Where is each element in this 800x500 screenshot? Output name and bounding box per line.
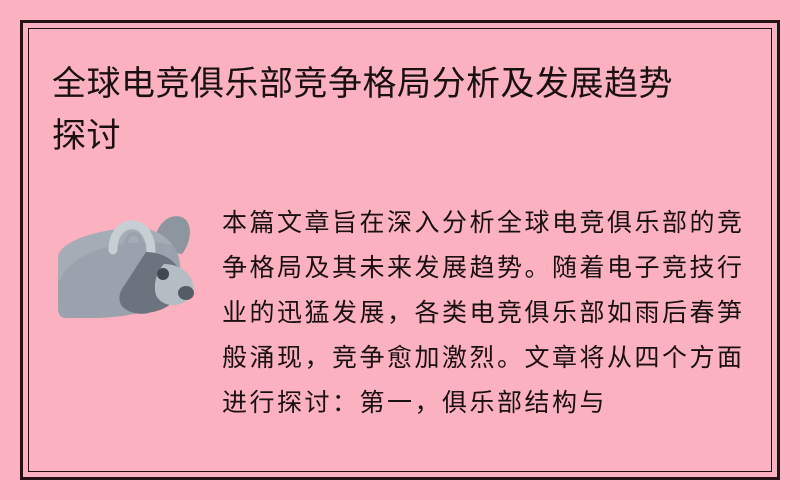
raccoon-head-icon <box>52 206 202 326</box>
illustration-container <box>52 196 222 326</box>
title-block: 全球电竞俱乐部竞争格局分析及发展趋势探讨 <box>52 58 752 162</box>
article-body-text: 本篇文章旨在深入分析全球电竞俱乐部的竞争格局及其未来发展趋势。随着电子竞技行业的… <box>222 196 752 425</box>
content-row: 本篇文章旨在深入分析全球电竞俱乐部的竞争格局及其未来发展趋势。随着电子竞技行业的… <box>52 196 752 425</box>
article-card: 全球电竞俱乐部竞争格局分析及发展趋势探讨 <box>0 0 800 500</box>
page-title: 全球电竞俱乐部竞争格局分析及发展趋势探讨 <box>52 58 692 162</box>
